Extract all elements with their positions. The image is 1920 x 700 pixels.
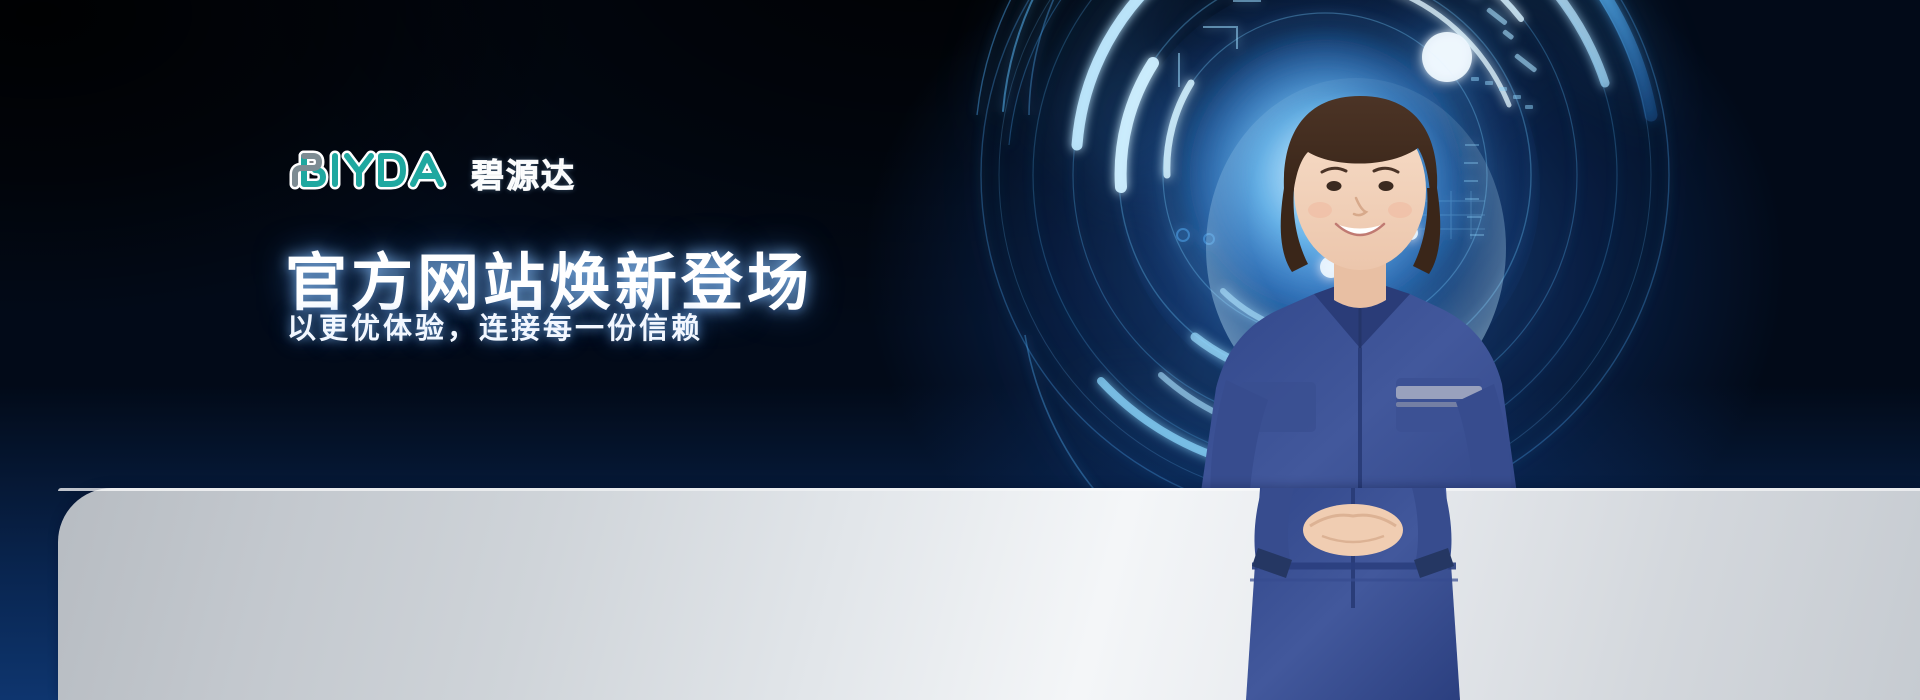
brand-logo[interactable]: 碧源达 [285, 148, 576, 192]
page-subtitle: 以更优体验，连接每一份信赖 [287, 305, 703, 347]
content-panel [58, 488, 1920, 700]
logo-chinese-name: 碧源达 [471, 159, 576, 192]
person-lower-body [1190, 488, 1520, 700]
hero-banner: 碧源达 官方网站焕新登场 以更优体验，连接每一份信赖 [0, 0, 1920, 700]
biyda-wordmark-icon [285, 148, 457, 192]
